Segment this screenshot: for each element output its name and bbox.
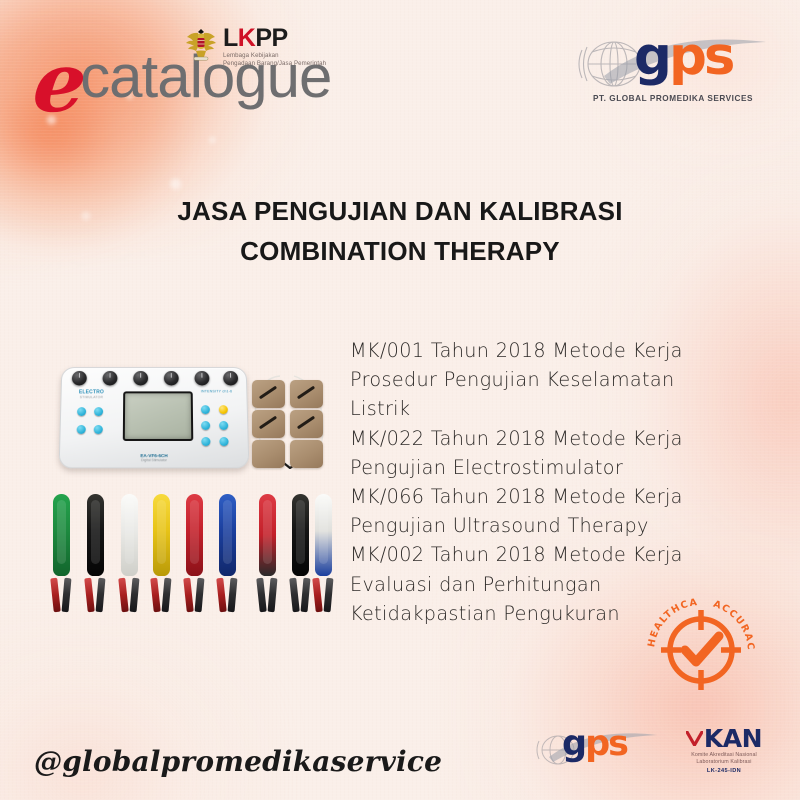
device-brand-subtext: STIMULATOR [71,395,111,399]
standards-line: MK/002 Tahun 2018 Metode Kerja [350,540,750,569]
electrode-pad [252,410,285,438]
device-knob [133,371,148,386]
kan-subtitle: Komite Akreditasi Nasional Laboratorium … [678,752,770,767]
garuda-emblem-icon [184,26,218,64]
standards-line: MK/066 Tahun 2018 Metode Kerja [350,482,750,511]
checkmark-icon [685,636,719,662]
device-button [219,437,228,446]
standards-line: Prosedur Pengujian Keselamatan [350,365,750,394]
device-right-label: INTENSITY ch1-6 [195,389,239,393]
device-button [94,425,103,434]
device-knob [194,371,209,386]
kan-check-icon [686,731,703,746]
gps-tagline: PT. GLOBAL PROMEDIKA SERVICES [578,94,768,103]
lead-wire-set [44,487,334,612]
lkpp-letter-k: K [238,24,256,52]
gps-letter-g: g [562,724,585,764]
lkpp-subtitle: Lembaga Kebijakan Pengadaan Barang/Jasa … [223,52,326,69]
title-line-2: COMBINATION THERAPY [0,232,800,272]
device-button [201,437,210,446]
lkpp-logo: LKPP Lembaga Kebijakan Pengadaan Barang/… [184,26,326,69]
lead-wire [84,494,108,612]
gps-logo-mark: gps [578,34,768,92]
device-knob [72,371,87,386]
standards-line: MK/001 Tahun 2018 Metode Kerja [350,336,750,365]
lead-wire [312,494,336,612]
kan-top-row: KAN [678,726,770,751]
kan-subtitle-line-2: Laboratorium Kalibrasi [678,759,770,767]
electrode-pad [252,380,285,408]
standards-line: MK/022 Tahun 2018 Metode Kerja [350,424,750,453]
electrode-pad [290,380,323,408]
device-button [201,421,210,430]
device-knob [223,371,238,386]
lead-wire [50,494,74,612]
kan-subtitle-line-1: Komite Akreditasi Nasional [678,752,770,760]
lkpp-letter-l: L [223,24,238,52]
footer-logo-row: gps KAN Komite Akreditasi Nasional Labor… [540,726,770,774]
device-model-subtext: Digital Stimulator [60,458,248,462]
social-handle: @globalpromedikaservice [34,745,442,778]
lkpp-text-block: LKPP Lembaga Kebijakan Pengadaan Barang/… [223,26,326,69]
lkpp-subtitle-line-1: Lembaga Kebijakan [223,52,326,61]
device-knob [164,371,179,386]
device-button [219,421,228,430]
standards-line: Pengujian Ultrasound Therapy [350,511,750,540]
electrode-pad [290,440,323,468]
title-line-1: JASA PENGUJIAN DAN KALIBRASI [0,192,800,232]
lkpp-letters-pp: PP [255,24,287,52]
gps-letter-g: g [634,26,669,87]
page-title: JASA PENGUJIAN DAN KALIBRASI COMBINATION… [0,192,800,271]
gps-letters-ps: ps [585,724,627,764]
electrostimulator-device: ELECTRO STIMULATOR INTENSITY ch1-6 EA-VF… [59,367,250,468]
device-footer-label: EA-VF6-6CH Digital Stimulator [60,453,248,462]
lkpp-acronym: LKPP [223,27,326,51]
device-button [201,405,210,414]
gps-logo-header: gps PT. GLOBAL PROMEDIKA SERVICES [578,34,768,103]
kan-accreditation-code: LK-245-IDN [678,768,770,774]
healthcare-accuracy-badge: HEALTHCARE ACCURACY [640,586,762,708]
standards-list: MK/001 Tahun 2018 Metode Kerja Prosedur … [350,336,750,628]
device-button [77,407,86,416]
device-knob [102,371,117,386]
gps-logo-footer: gps [540,729,658,771]
electrode-pad [252,440,285,468]
kan-logo: KAN Komite Akreditasi Nasional Laborator… [678,726,770,774]
lead-wire [150,494,174,612]
kan-wordmark: KAN [704,726,762,751]
lead-wire [216,494,240,612]
lead-wire [256,494,280,612]
lead-wire [183,494,207,612]
lead-wire [118,494,142,612]
lkpp-subtitle-line-2: Pengadaan Barang/Jasa Pemerintah [223,60,326,69]
gps-wordmark-footer: gps [562,727,627,762]
ecatalogue-accent-letter: e [30,42,91,124]
device-brand-label: ELECTRO STIMULATOR [71,389,111,399]
standards-line: Listrik [350,394,750,423]
lead-wire [289,494,313,612]
device-button [77,425,86,434]
product-photo: ELECTRO STIMULATOR INTENSITY ch1-6 EA-VF… [44,362,334,612]
electrode-pad [290,410,323,438]
poster-canvas: ecatalogue LKPP Lembaga Kebijakan Pengad… [0,0,800,800]
gps-wordmark: gps [634,30,732,83]
standards-line: Pengujian Electrostimulator [350,453,750,482]
device-button [94,407,103,416]
device-lcd-screen [123,391,193,441]
gps-letters-ps: ps [669,26,733,87]
electrode-pad-set [250,374,328,469]
device-button-alert [219,405,228,414]
